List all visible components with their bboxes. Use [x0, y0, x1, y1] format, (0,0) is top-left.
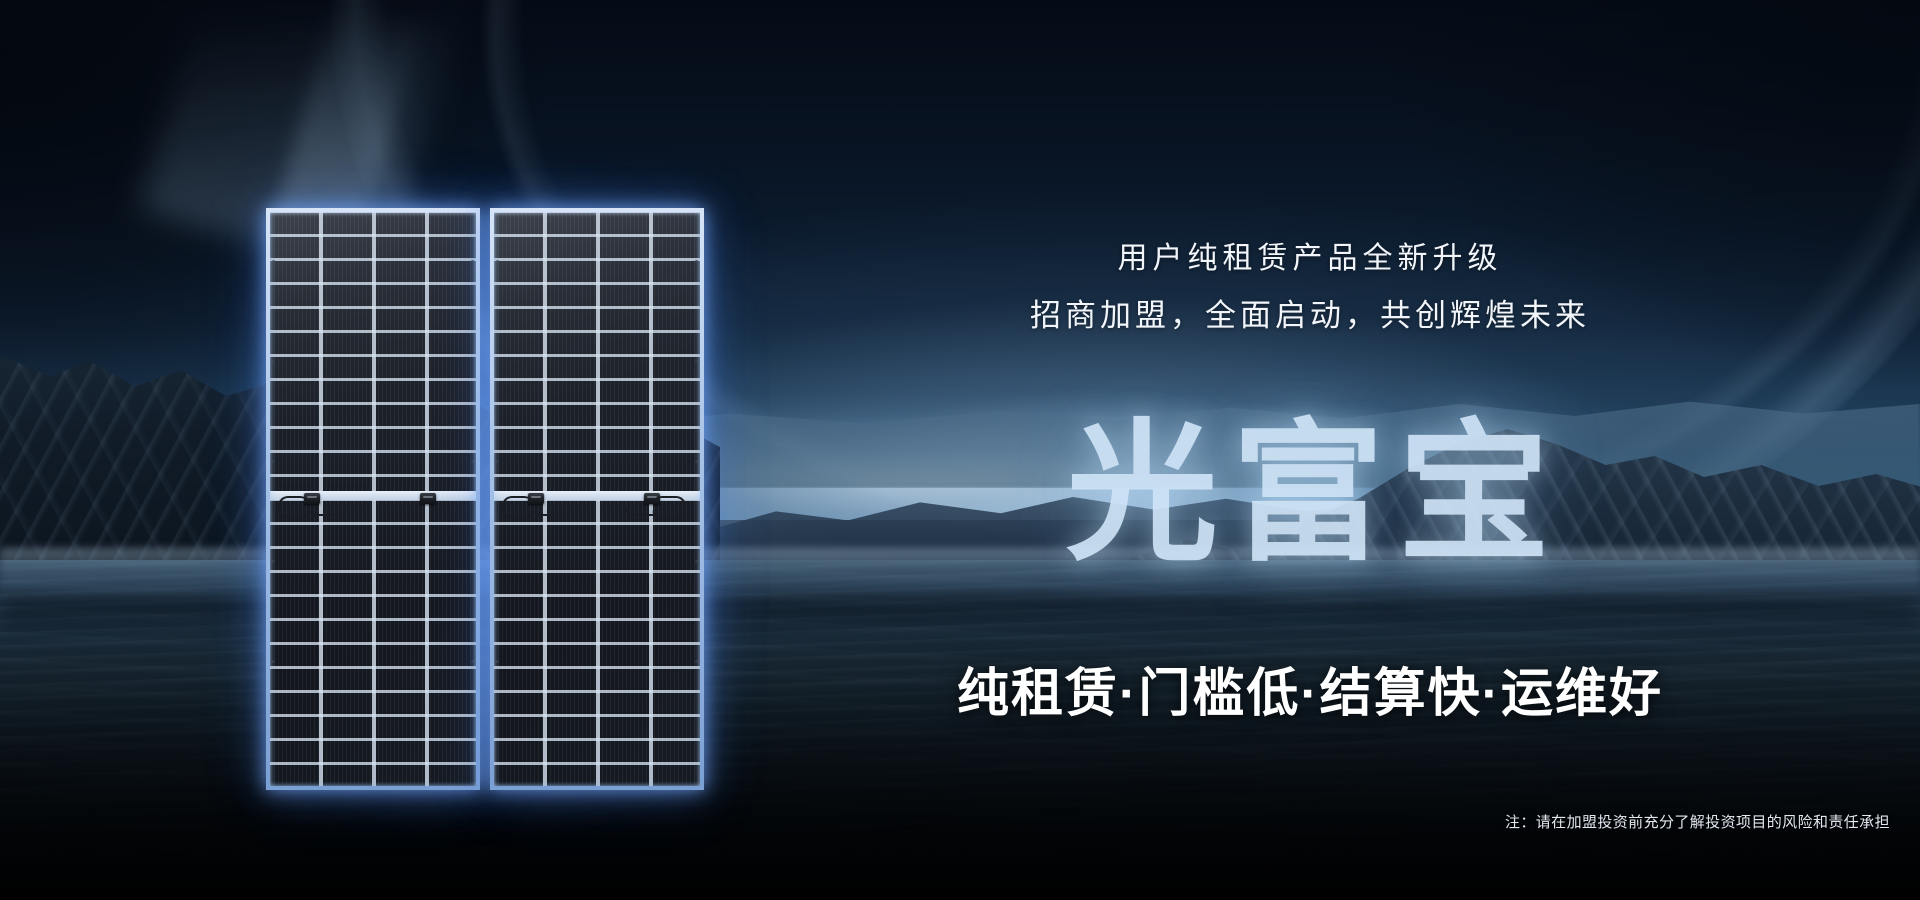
junction-box [420, 493, 436, 504]
frame-rivet [695, 360, 698, 363]
frame-rivet [471, 260, 474, 263]
frame-rivet [272, 460, 275, 463]
solar-panel-right [490, 208, 704, 790]
panel-cable [278, 496, 310, 519]
frame-rivet [272, 560, 275, 563]
solar-panel-left [266, 208, 480, 790]
panel-cable [534, 505, 566, 516]
poster-canvas: 用户纯租赁产品全新升级 招商加盟，全面启动，共创辉煌未来 光富宝 纯租赁·门槛低… [0, 0, 1920, 900]
frame-rivet [695, 260, 698, 263]
brand-title: 光富宝 [935, 418, 1695, 570]
frame-rivet [272, 660, 275, 663]
sky-vignette-right [1220, 0, 1920, 470]
panel-cable [310, 505, 342, 516]
disclaimer-note: 注：请在加盟投资前充分了解投资项目的风险和责任承担 [1505, 811, 1890, 832]
headline-line-2: 招商加盟，全面启动，共创辉煌未来 [940, 300, 1680, 331]
frame-rivet [272, 360, 275, 363]
frame-rivet [272, 260, 275, 263]
frame-rivet [695, 460, 698, 463]
slogan-text: 纯租赁·门槛低·结算快·运维好 [830, 668, 1790, 720]
panel-cable [626, 505, 658, 516]
frame-rivet [496, 260, 499, 263]
frame-rivet [695, 560, 698, 563]
headline-block: 用户纯租赁产品全新升级 招商加盟，全面启动，共创辉煌未来 [940, 244, 1680, 331]
frame-rivet [471, 460, 474, 463]
frame-rivet [496, 460, 499, 463]
solar-panel-assembly [266, 208, 714, 790]
frame-rivet [471, 660, 474, 663]
headline-line-1: 用户纯租赁产品全新升级 [940, 244, 1680, 274]
panel-cable [502, 496, 534, 519]
frame-rivet [695, 660, 698, 663]
frame-rivet [496, 660, 499, 663]
